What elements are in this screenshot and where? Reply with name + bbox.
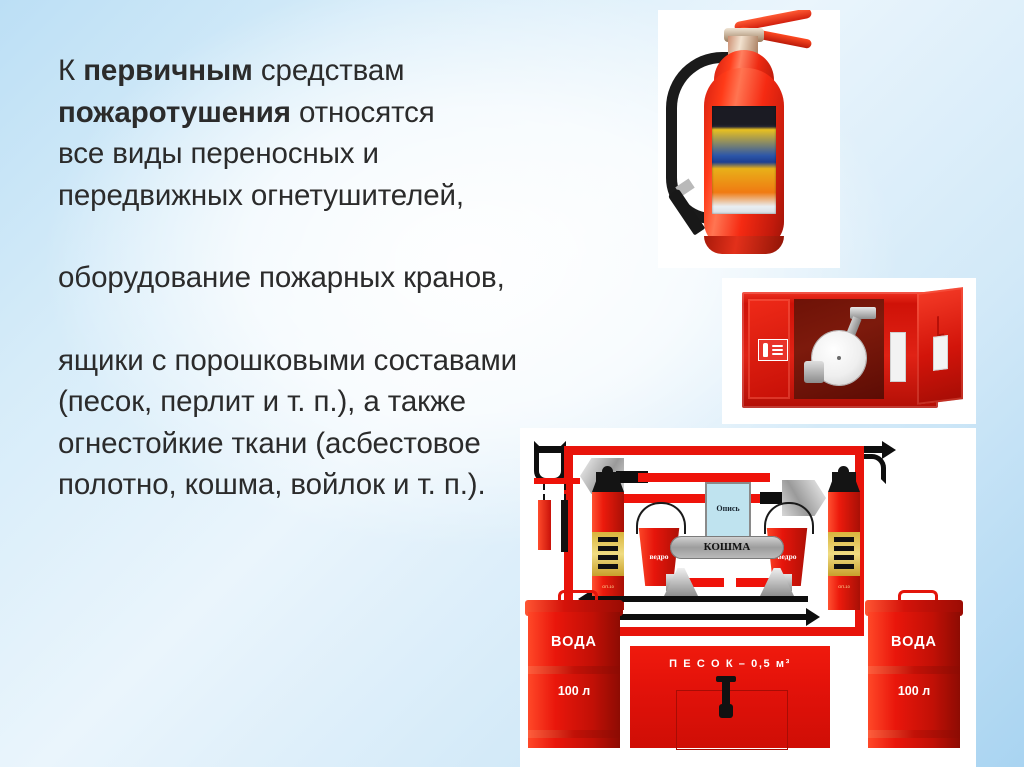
sand-box-lid [676,690,788,750]
cabinet-body [742,292,938,408]
barrel-right-title: ВОДА [868,634,960,650]
inventory-sign: Опись [705,482,751,540]
rail-arrow-right-icon [882,441,896,459]
fire-hose-cabinet-image [722,278,976,424]
barrel-right-ring-2 [868,730,960,738]
cabinet-interior [794,299,884,399]
sand-box-label: П Е С О К – 0,5 м³ [630,658,830,670]
left-shelf-bar [534,478,580,484]
fire-safety-shield-diagram-image: ОП-10 ОП-10 Опись ведро ведро КОШМА [520,428,976,767]
text-run: ящики с порошковыми составами (песок, пе… [58,344,517,502]
paragraph-2: оборудование пожарных кранов, [58,257,698,299]
shield-extinguisher-right: ОП-10 [828,488,860,628]
barrel-right-body [868,612,960,748]
barrel-right-volume: 100 л [868,684,960,698]
text-run: оборудование пожарных кранов, [58,261,505,294]
inventory-sign-label: Опись [707,504,749,513]
barrel-right-ring-1 [868,666,960,674]
hose-coupling-valve [804,361,824,383]
ext-left-cap [592,480,624,492]
cabinet-inspection-tag [890,332,906,382]
door-latch-hook-icon [937,316,944,337]
shovel-handle-left [638,473,770,482]
shelf-dash-line-2 [564,484,566,500]
paragraph-1: К первичным средствам пожаротушения отно… [58,50,478,216]
ext-right-cap [828,480,860,492]
dimension-arrow-right-head-icon [806,608,820,626]
felt-mat-label: КОШМА [670,541,784,553]
barrel-left-body [528,612,620,748]
ext-right-label-lines [834,537,854,571]
ext-left-label-lines [598,537,618,571]
water-barrel-right: ВОДА 100 л [868,612,960,748]
emphasis-run: первичным [83,54,253,87]
barrel-left-volume: 100 л [528,684,620,698]
cabinet-right-door [917,287,963,405]
extinguisher-base [704,236,784,254]
barrel-left-ring-2 [528,730,620,738]
barrel-left-ring-1 [528,666,620,674]
shelf-dash-line-1 [543,484,545,500]
crowbar-rod [561,500,568,552]
text-run: средствам [253,54,405,87]
fire-extinguisher-pictogram-icon [758,339,788,361]
text-run: К [58,54,83,87]
sand-box-knob [719,704,733,718]
door-label-tag [933,335,948,371]
portable-fire-extinguisher-image [658,10,840,268]
ext-right-code: ОП-10 [828,584,860,589]
small-extinguisher [538,500,551,550]
felt-mat: КОШМА [670,536,784,559]
paragraph-3: ящики с порошковыми составами (песок, пе… [58,340,528,506]
cabinet-left-door [748,299,790,399]
hook-handle-bar [536,446,566,453]
extinguisher-instruction-label [712,106,776,214]
ext-left-code: ОП-10 [592,584,624,589]
water-barrel-left: ВОДА 100 л [528,612,620,748]
sand-box: П Е С О К – 0,5 м³ [630,646,830,748]
barrel-left-title: ВОДА [528,634,620,650]
emphasis-run: пожаротушения [58,96,291,129]
dimension-arrow-right-line [590,614,808,620]
